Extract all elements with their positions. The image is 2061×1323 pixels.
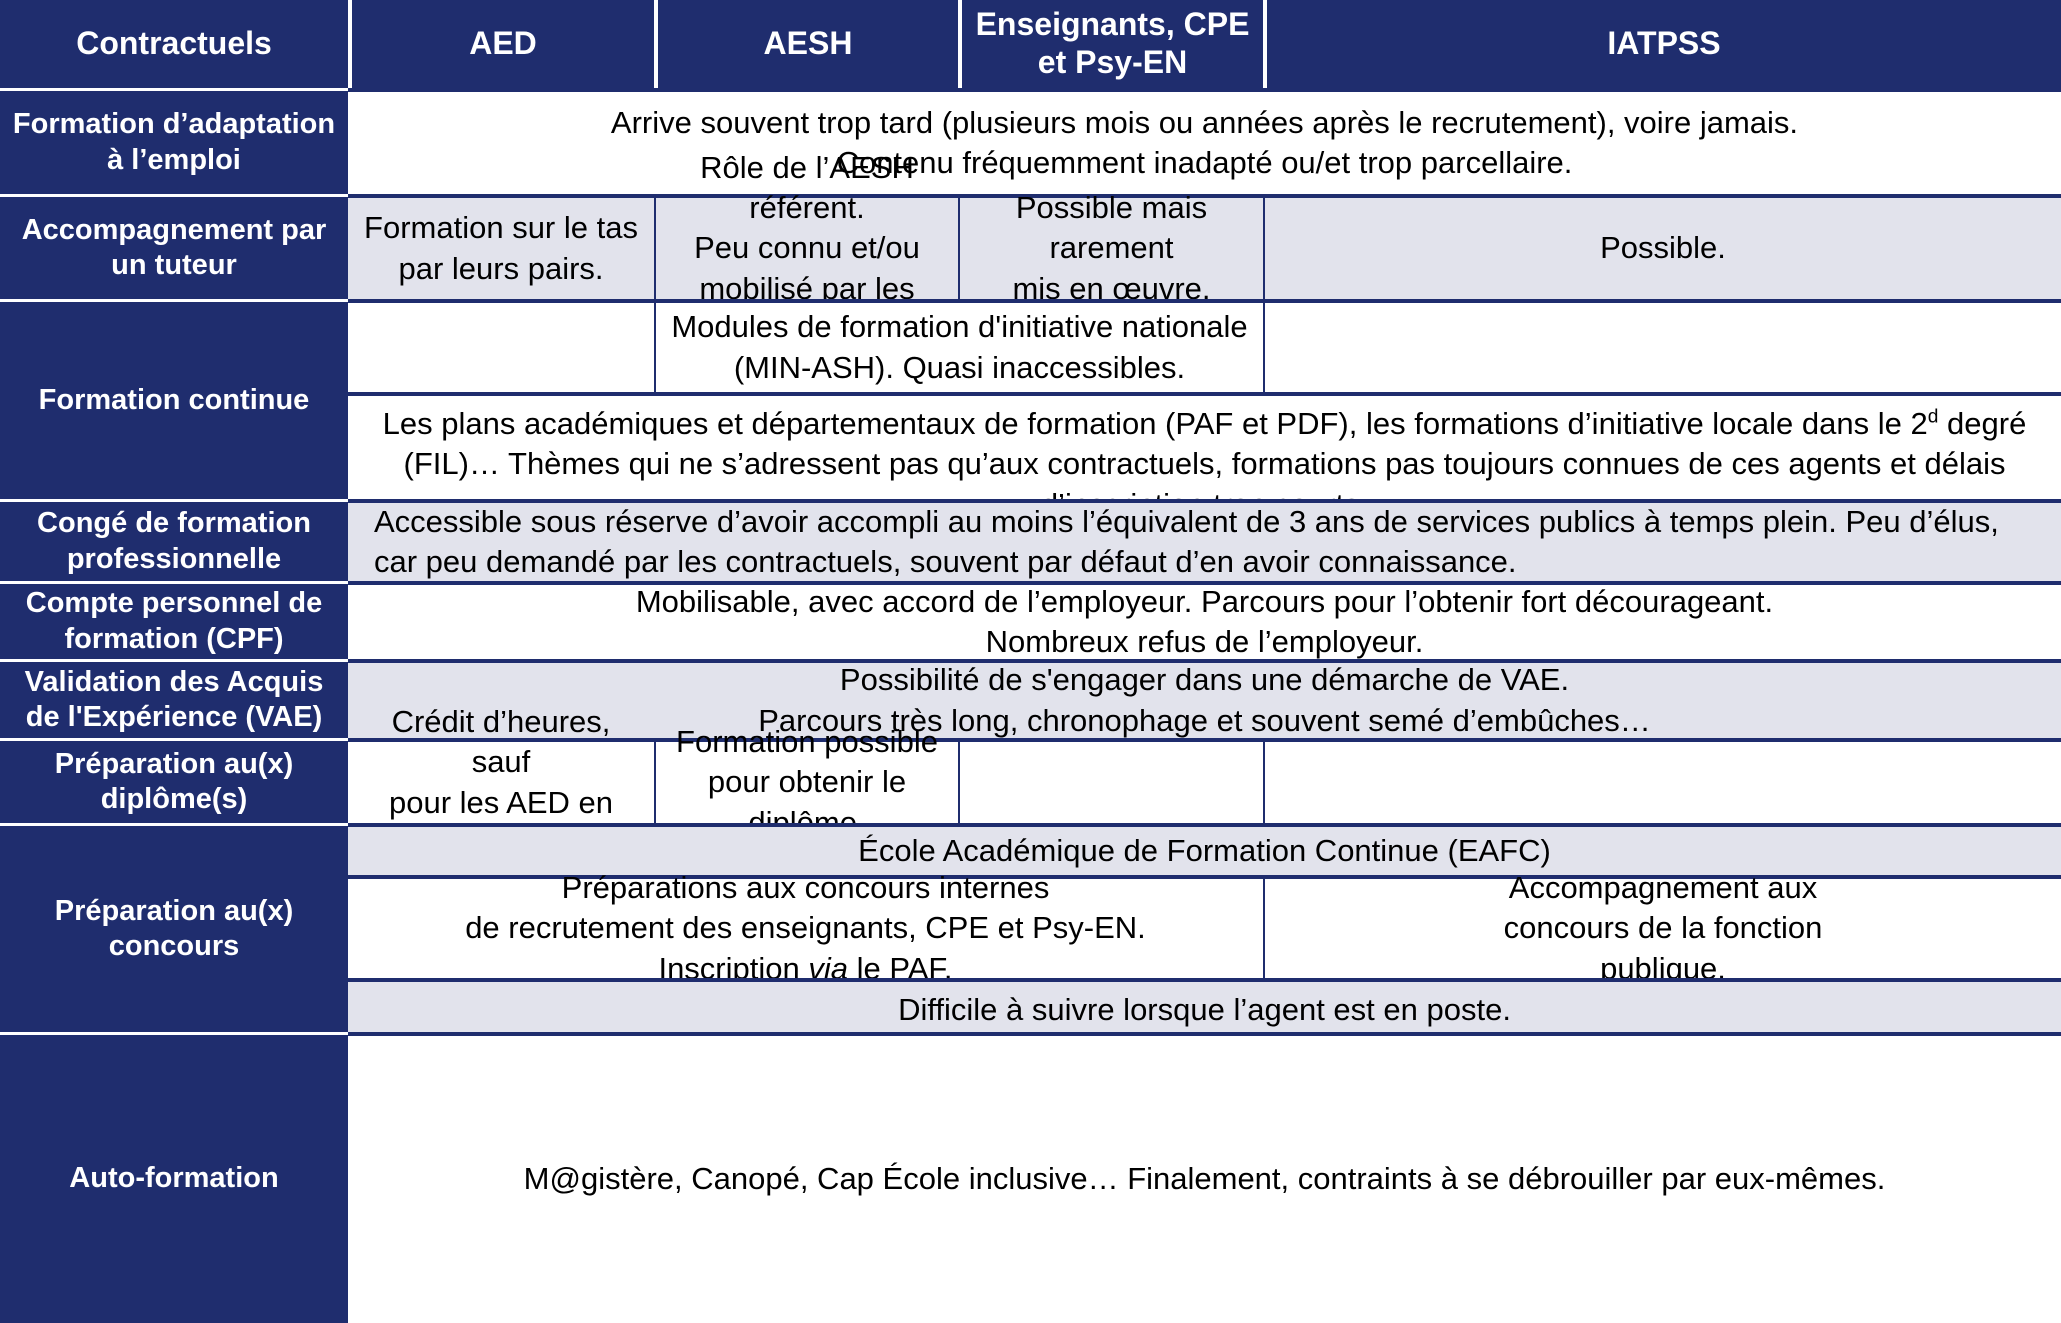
cell-diplome-aesh: Formation possible pour obtenir le diplô… (654, 742, 958, 823)
header-cell-enseignants: Enseignants, CPE et Psy-EN (962, 0, 1263, 88)
cell-vae-line1: Possibilité de s'engager dans une démarc… (758, 660, 1651, 700)
cell-continue-min-ash: Modules de formation d'initiative nation… (654, 303, 1263, 392)
cell-cpf-text: Mobilisable, avec accord de l’employeur.… (348, 585, 2061, 659)
row-label-preparation-concours: Préparation au(x) concours (0, 823, 348, 1032)
header-cell-contractuels: Contractuels (0, 0, 348, 88)
cell-tuteur-aed-line1: Formation sur le tas (364, 208, 638, 248)
row-label-formation-adaptation: Formation d’adaptation à l’emploi (0, 88, 348, 194)
cell-continue-iatpss-empty (1263, 303, 2061, 392)
table-row-vae: Validation des Acquis de l'Expérience (V… (0, 659, 2061, 738)
cell-conge-text: Accessible sous réserve d’avoir accompli… (348, 503, 2061, 581)
header-cell-aed: AED (352, 0, 654, 88)
cell-diplome-enseignants-empty (958, 742, 1263, 823)
cell-adaptation-line1: Arrive souvent trop tard (plusieurs mois… (611, 103, 1798, 143)
cell-continue-paragraph-superscript: d (1928, 407, 1939, 428)
cell-adaptation-all: Arrive souvent trop tard (plusieurs mois… (348, 92, 2061, 194)
cell-concours-line2: de recrutement des enseignants, CPE et P… (465, 908, 1146, 948)
table-row-preparation-concours: Préparation au(x) concours École Académi… (0, 823, 2061, 1032)
cell-continue-min-ash-line1: Modules de formation d'initiative nation… (671, 307, 1247, 347)
row-body-cpf: Mobilisable, avec accord de l’employeur.… (348, 581, 2061, 659)
cell-concours-iatpss-line1: Accompagnement aux (1504, 868, 1823, 908)
cell-continue-min-ash-line2: (MIN-ASH). Quasi inaccessibles. (671, 348, 1247, 388)
cell-tuteur-aed: Formation sur le tas par leurs pairs. (348, 198, 654, 299)
table-row-formation-adaptation: Formation d’adaptation à l’emploi Arrive… (0, 88, 2061, 194)
row-label-accompagnement-tuteur: Accompagnement par un tuteur (0, 194, 348, 299)
table-row-cpf: Compte personnel de formation (CPF) Mobi… (0, 581, 2061, 659)
cell-concours-iatpss-line2: concours de la fonction (1504, 908, 1823, 948)
cell-tuteur-aesh-line1: Rôle de l’AESH référent. (670, 148, 944, 229)
cell-auto-formation-text: M@gistère, Canopé, Cap École inclusive… … (348, 1036, 2061, 1323)
header-cell-iatpss: IATPSS (1267, 0, 2061, 88)
table-row-auto-formation: Auto-formation M@gistère, Canopé, Cap Éc… (0, 1032, 2061, 1323)
cell-diplome-iatpss-empty (1263, 742, 2061, 823)
row-label-formation-continue: Formation continue (0, 299, 348, 499)
table-row-accompagnement-tuteur: Accompagnement par un tuteur Formation s… (0, 194, 2061, 299)
cell-tuteur-ens-line1: Possible mais rarement (974, 188, 1249, 269)
cell-concours-difficile: Difficile à suivre lorsque l’agent est e… (348, 982, 2061, 1038)
row-label-conge-formation: Congé de formation professionnelle (0, 499, 348, 581)
row-body-auto-formation: M@gistère, Canopé, Cap École inclusive… … (348, 1032, 2061, 1323)
comparison-table: Contractuels AED AESH Enseignants, CPE e… (0, 0, 2061, 1323)
cell-tuteur-enseignants: Possible mais rarement mis en œuvre. (958, 198, 1263, 299)
row-label-cpf: Compte personnel de formation (CPF) (0, 581, 348, 659)
row-label-preparation-diplome: Préparation au(x) diplôme(s) (0, 738, 348, 823)
cell-tuteur-aed-line2: par leurs pairs. (364, 249, 638, 289)
cell-continue-aed-empty (348, 303, 654, 392)
cell-cpf-line1: Mobilisable, avec accord de l’employeur.… (636, 582, 1773, 622)
row-body-conge-formation: Accessible sous réserve d’avoir accompli… (348, 499, 2061, 581)
row-body-formation-adaptation: Arrive souvent trop tard (plusieurs mois… (348, 88, 2061, 194)
cell-diplome-aed-line1: Crédit d’heures, sauf (362, 702, 640, 783)
cell-diplome-aed: Crédit d’heures, sauf pour les AED en CD… (348, 742, 654, 823)
row-label-vae: Validation des Acquis de l'Expérience (V… (0, 659, 348, 738)
row-body-preparation-concours: École Académique de Formation Continue (… (348, 823, 2061, 1032)
cell-cpf-line2: Nombreux refus de l’employeur. (636, 622, 1773, 662)
row-body-accompagnement-tuteur: Formation sur le tas par leurs pairs. Rô… (348, 194, 2061, 299)
cell-concours-iatpss: Accompagnement aux concours de la foncti… (1263, 879, 2061, 978)
table-row-formation-continue: Formation continue Modules de formation … (0, 299, 2061, 499)
row-body-formation-continue: Modules de formation d'initiative nation… (348, 299, 2061, 499)
cell-diplome-aesh-line1: Formation possible (670, 722, 944, 762)
row-label-auto-formation: Auto-formation (0, 1032, 348, 1323)
cell-concours-line1: Préparations aux concours internes (465, 868, 1146, 908)
cell-concours-main: Préparations aux concours internes de re… (348, 879, 1263, 978)
cell-continue-paragraph-part1: Les plans académiques et départementaux … (383, 406, 1928, 441)
row-body-preparation-diplome: Crédit d’heures, sauf pour les AED en CD… (348, 738, 2061, 823)
header-cell-aesh: AESH (658, 0, 958, 88)
table-header-row: Contractuels AED AESH Enseignants, CPE e… (0, 0, 2061, 88)
cell-tuteur-iatpss: Possible. (1263, 198, 2061, 299)
table-row-conge-formation: Congé de formation professionnelle Acces… (0, 499, 2061, 581)
cell-tuteur-aesh-line2: Peu connu et/ou (670, 228, 944, 268)
cell-tuteur-aesh: Rôle de l’AESH référent. Peu connu et/ou… (654, 198, 958, 299)
table-row-preparation-diplome: Préparation au(x) diplôme(s) Crédit d’he… (0, 738, 2061, 823)
